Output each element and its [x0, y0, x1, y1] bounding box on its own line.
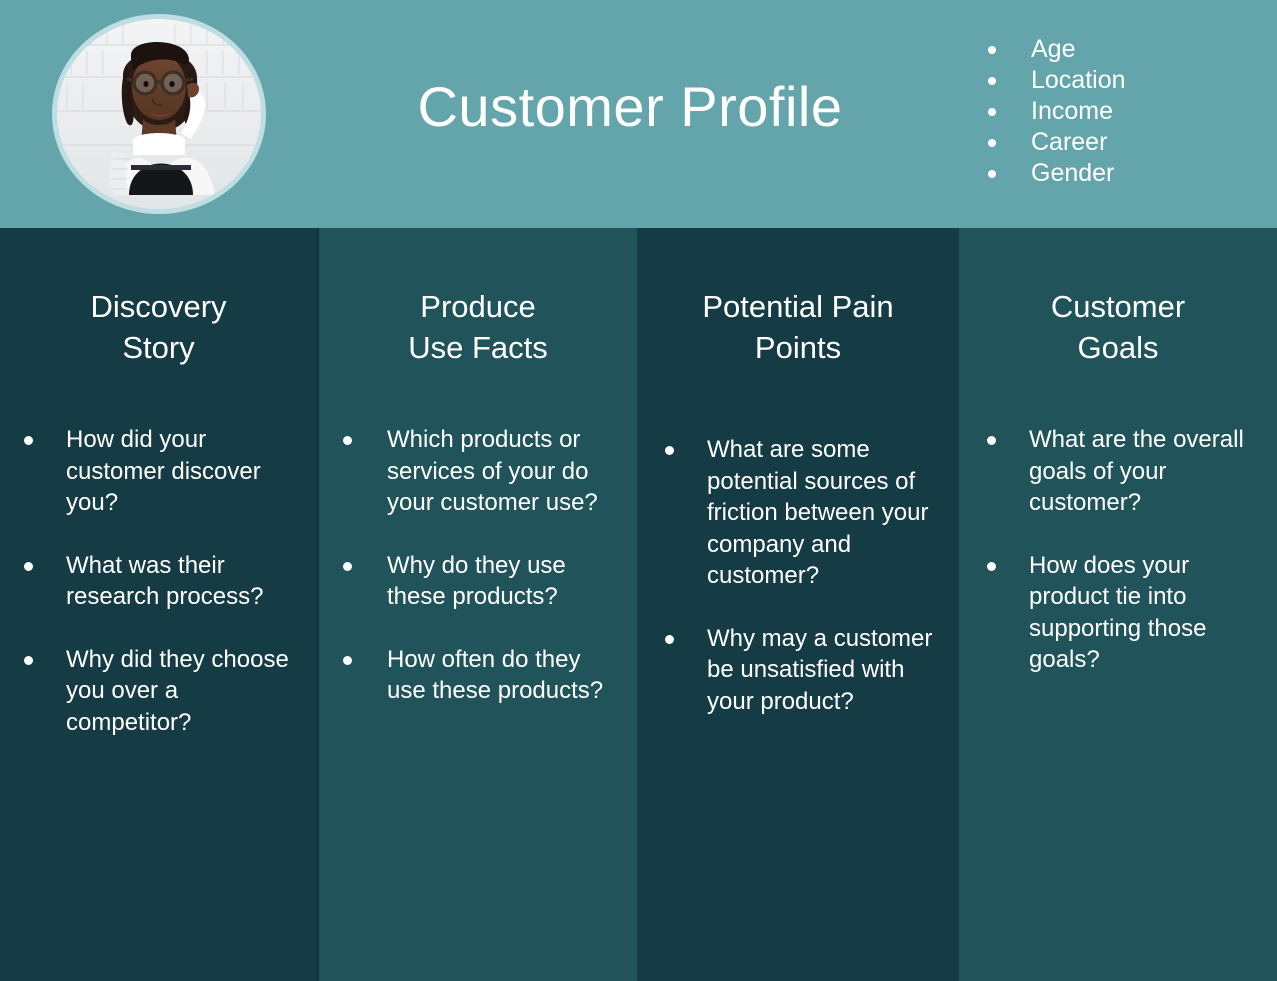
column-potential-pain-points: Potential Pain Points What are some pote… — [637, 228, 959, 981]
avatar — [52, 14, 266, 214]
question-text: Why may a customer be unsatisfied with y… — [707, 625, 932, 715]
customer-profile-worksheet: Customer Profile Age Location Income Car… — [0, 0, 1277, 981]
bullet-icon — [987, 562, 996, 571]
column-question-list: Which products or services of your do yo… — [319, 424, 637, 738]
column-title: Customer Goals — [959, 286, 1277, 368]
list-item: Age — [980, 34, 1126, 65]
question-text: What was their research process? — [66, 552, 263, 611]
column-title: Potential Pain Points — [637, 286, 959, 368]
question-text: What are some potential sources of frict… — [707, 436, 928, 589]
question-text: How does your product tie into supportin… — [1029, 552, 1206, 674]
customer-portrait-photo — [57, 19, 261, 209]
page-title: Customer Profile — [300, 76, 960, 138]
bullet-icon — [988, 108, 996, 116]
attribute-label: Career — [1031, 128, 1107, 156]
header-banner: Customer Profile Age Location Income Car… — [0, 0, 1277, 228]
column-title-line-2: Use Facts — [333, 327, 623, 368]
column-produce-use-facts: Produce Use Facts Which products or serv… — [317, 228, 637, 981]
list-item: Which products or services of your do yo… — [319, 424, 613, 519]
profile-columns: Discovery Story How did your customer di… — [0, 228, 1277, 981]
question-text: Which products or services of your do yo… — [387, 426, 598, 516]
bullet-icon — [988, 139, 996, 147]
customer-attributes-list: Age Location Income Career Gender — [980, 34, 1126, 189]
attribute-label: Location — [1031, 66, 1126, 94]
question-text: How did your customer discover you? — [66, 426, 261, 516]
column-title-line-1: Produce — [333, 286, 623, 327]
list-item: Location — [980, 65, 1126, 96]
question-text: How often do they use these products? — [387, 646, 603, 705]
bullet-icon — [24, 436, 33, 445]
list-item: What was their research process? — [0, 550, 293, 613]
column-title-line-2: Goals — [973, 327, 1263, 368]
bullet-icon — [24, 562, 33, 571]
column-title: Produce Use Facts — [319, 286, 637, 368]
list-item: How often do they use these products? — [319, 644, 613, 707]
bullet-icon — [343, 436, 352, 445]
column-title-line-1: Discovery — [14, 286, 303, 327]
bullet-icon — [343, 562, 352, 571]
column-customer-goals: Customer Goals What are the overall goal… — [959, 228, 1277, 981]
column-title-line-1: Potential Pain — [651, 286, 945, 327]
column-title-line-2: Points — [651, 327, 945, 368]
bullet-icon — [988, 170, 996, 178]
question-text: Why do they use these products? — [387, 552, 566, 611]
list-item: Why may a customer be unsatisfied with y… — [637, 623, 935, 718]
attribute-label: Age — [1031, 35, 1075, 63]
list-item: How does your product tie into supportin… — [959, 550, 1255, 676]
column-title: Discovery Story — [0, 286, 317, 368]
list-item: How did your customer discover you? — [0, 424, 293, 519]
question-text: Why did they choose you over a competito… — [66, 646, 289, 736]
column-question-list: How did your customer discover you? What… — [0, 424, 317, 769]
bullet-icon — [343, 656, 352, 665]
bullet-icon — [665, 635, 674, 644]
attribute-label: Income — [1031, 97, 1113, 125]
column-title-line-2: Story — [14, 327, 303, 368]
question-text: What are the overall goals of your custo… — [1029, 426, 1244, 516]
column-question-list: What are some potential sources of frict… — [637, 434, 959, 748]
bullet-icon — [665, 446, 674, 455]
list-item: Why did they choose you over a competito… — [0, 644, 293, 739]
list-item: Income — [980, 96, 1126, 127]
list-item: Career — [980, 127, 1126, 158]
column-question-list: What are the overall goals of your custo… — [959, 424, 1277, 707]
bullet-icon — [24, 656, 33, 665]
list-item: What are the overall goals of your custo… — [959, 424, 1255, 519]
list-item: What are some potential sources of frict… — [637, 434, 935, 592]
column-discovery-story: Discovery Story How did your customer di… — [0, 228, 317, 981]
bullet-icon — [987, 436, 996, 445]
list-item: Gender — [980, 158, 1126, 189]
column-title-line-1: Customer — [973, 286, 1263, 327]
bullet-icon — [988, 77, 996, 85]
bullet-icon — [988, 46, 996, 54]
list-item: Why do they use these products? — [319, 550, 613, 613]
attribute-label: Gender — [1031, 159, 1114, 187]
